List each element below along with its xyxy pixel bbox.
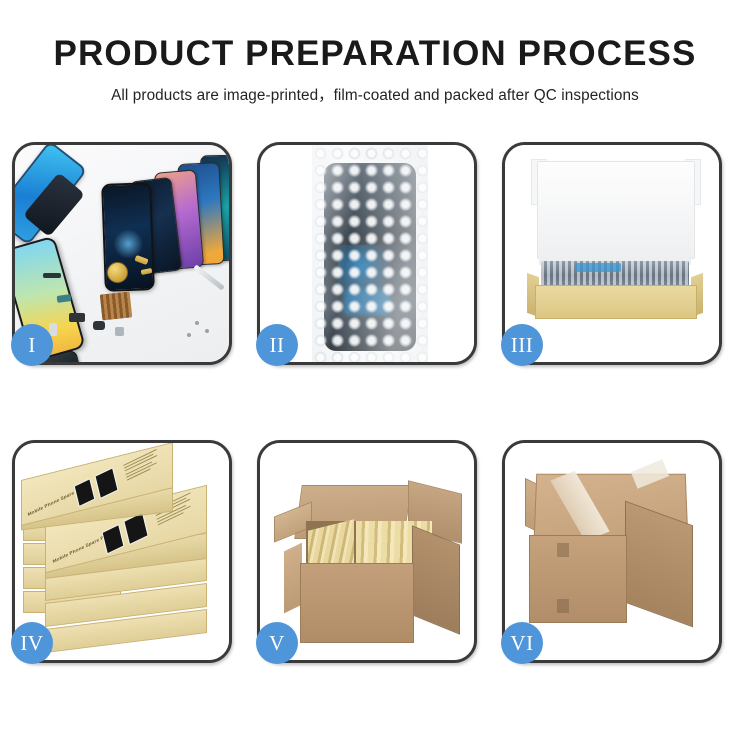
screw-image	[187, 333, 191, 337]
carton-handle-notch	[557, 599, 569, 613]
wrapped-products-in-box-image	[541, 261, 689, 287]
page-subtitle: All products are image-printed，film-coat…	[0, 74, 750, 105]
carton-front-face	[300, 563, 414, 643]
speaker-module-image	[107, 262, 128, 283]
box-spec-lines	[123, 447, 164, 482]
box-interior-image	[539, 203, 691, 265]
sealed-carton-front-face	[529, 535, 627, 623]
process-step-panel-1[interactable]: I	[12, 142, 232, 365]
step-badge-6: VI	[501, 622, 543, 664]
step-badge-4: IV	[11, 622, 53, 664]
screw-image	[205, 329, 209, 333]
box-screen-graphic	[94, 467, 118, 499]
process-step-grid: I II	[12, 142, 738, 663]
process-step-panel-6[interactable]: VI	[502, 440, 722, 663]
step-badge-5: V	[256, 622, 298, 664]
spare-part-image	[69, 313, 85, 322]
film-sheen	[312, 145, 428, 362]
infographic-page: PRODUCT PREPARATION PROCESS All products…	[0, 0, 750, 750]
step-badge-2: II	[256, 324, 298, 366]
process-step-panel-3[interactable]: III	[502, 142, 722, 365]
process-step-panel-5[interactable]: V	[257, 440, 477, 663]
carton-right-face	[412, 525, 460, 634]
spare-part-image	[115, 327, 124, 336]
step-badge-3: III	[501, 324, 543, 366]
step-badge-1: I	[11, 324, 53, 366]
box-screen-graphic	[102, 524, 125, 554]
kraft-box-base-image	[535, 285, 697, 319]
process-step-panel-2[interactable]: II	[257, 142, 477, 365]
header: PRODUCT PREPARATION PROCESS All products…	[0, 0, 750, 105]
page-title: PRODUCT PREPARATION PROCESS	[0, 0, 750, 74]
carton-handle-notch	[557, 543, 569, 557]
box-screen-graphic	[74, 478, 96, 507]
screw-image	[195, 321, 199, 325]
connector-board-image	[100, 292, 133, 321]
spare-part-image	[93, 321, 105, 330]
spare-part-image	[43, 273, 61, 278]
process-step-panel-4[interactable]: Mobile Phone Spare Parts Mobile Phone Sp…	[12, 440, 232, 663]
